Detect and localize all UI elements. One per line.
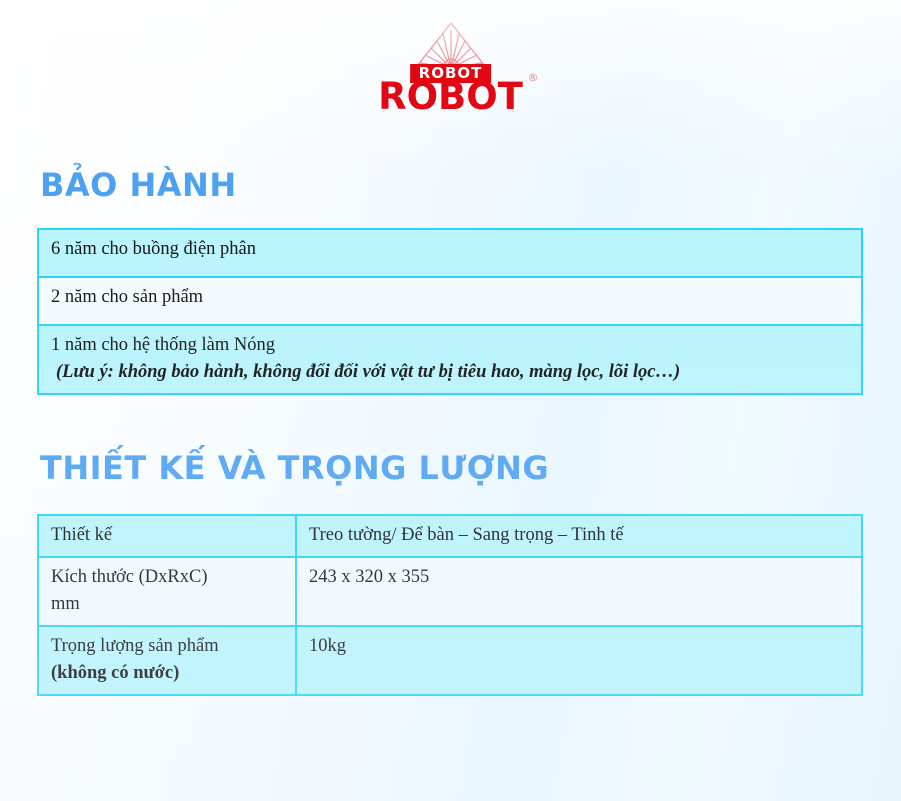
warranty-cell-2-text: 1 năm cho hệ thống làm Nóng — [51, 335, 275, 355]
warranty-table: 6 năm cho buồng điện phân 2 năm cho sản … — [37, 228, 863, 395]
design-label-1-text: Kích thước (DxRxC) — [51, 567, 207, 587]
page-title-warranty: BẢO HÀNH — [40, 166, 237, 204]
table-row: 2 năm cho sản phẩm — [38, 277, 862, 325]
design-label-2: Trọng lượng sản phẩm (không có nước) — [38, 626, 296, 695]
page-title-design: THIẾT KẾ VÀ TRỌNG LƯỢNG — [40, 449, 549, 487]
table-row: Kích thước (DxRxC) mm 243 x 320 x 355 — [38, 557, 862, 626]
registered-trademark-icon: ® — [528, 72, 539, 83]
table-row: 6 năm cho buồng điện phân — [38, 229, 862, 277]
warranty-cell-0: 6 năm cho buồng điện phân — [38, 229, 862, 277]
design-label-0: Thiết kế — [38, 515, 296, 557]
warranty-cell-1: 2 năm cho sản phẩm — [38, 277, 862, 325]
warranty-cell-2-note: (Lưu ý: không bảo hành, không đổi đối vớ… — [51, 359, 849, 386]
brand-logo: ROBOT ROBOT ® — [0, 22, 901, 104]
logo-chip-text: ROBOT — [410, 64, 492, 83]
design-label-2-sub: (không có nước) — [51, 660, 283, 687]
table-row: Trọng lượng sản phẩm (không có nước) 10k… — [38, 626, 862, 695]
page-canvas: ROBOT ROBOT ® BẢO HÀNH 6 năm cho buồng đ… — [0, 0, 901, 801]
warranty-cell-2: 1 năm cho hệ thống làm Nóng (Lưu ý: khôn… — [38, 325, 862, 394]
table-row: Thiết kế Treo tường/ Để bàn – Sang trọng… — [38, 515, 862, 557]
design-value-0: Treo tường/ Để bàn – Sang trọng – Tinh t… — [296, 515, 862, 557]
design-value-1: 243 x 320 x 355 — [296, 557, 862, 626]
logo-wordmark: ROBOT — [378, 78, 523, 115]
design-weight-table: Thiết kế Treo tường/ Để bàn – Sang trọng… — [37, 514, 863, 696]
design-value-2: 10kg — [296, 626, 862, 695]
design-label-2-text: Trọng lượng sản phẩm — [51, 636, 219, 656]
table-row: 1 năm cho hệ thống làm Nóng (Lưu ý: khôn… — [38, 325, 862, 394]
design-label-1-unit: mm — [51, 591, 283, 618]
design-label-1: Kích thước (DxRxC) mm — [38, 557, 296, 626]
